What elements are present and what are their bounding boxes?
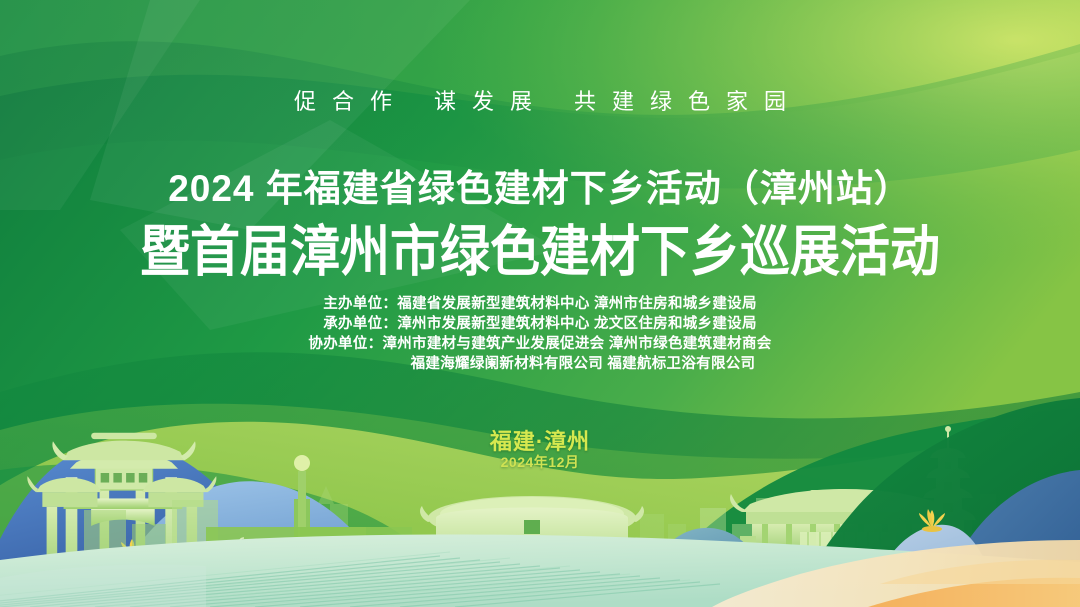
title-line-1: 2024 年福建省绿色建材下乡活动（漳州站）: [0, 158, 1080, 212]
organizer-value: 福建省发展新型建筑材料中心 漳州市住房和城乡建设局: [397, 294, 757, 314]
organizer-value: 漳州市发展新型建筑材料中心 龙文区住房和城乡建设局: [397, 314, 757, 334]
tagline-part-1: 促合作: [294, 89, 408, 114]
organizer-block: 主办单位：福建省发展新型建筑材料中心 漳州市住房和城乡建设局 承办单位：漳州市发…: [0, 294, 1080, 374]
tagline: 促合作谋发展共建绿色家园: [0, 84, 1080, 116]
organizer-value: 漳州市建材与建筑产业发展促进会 漳州市绿色建筑建材商会: [382, 334, 771, 354]
organizer-label: 承办单位：: [323, 314, 397, 334]
organizer-label: 协办单位：: [308, 334, 382, 354]
organizer-row: 主办单位：福建省发展新型建筑材料中心 漳州市住房和城乡建设局: [0, 294, 1080, 314]
organizer-value: 福建海耀绿阑新材料有限公司 福建航标卫浴有限公司: [411, 354, 756, 374]
organizer-row: 承办单位：漳州市发展新型建筑材料中心 龙文区住房和城乡建设局: [0, 314, 1080, 334]
text-content: 促合作谋发展共建绿色家园 2024 年福建省绿色建材下乡活动（漳州站） 暨首届漳…: [0, 0, 1080, 607]
organizer-row: 福建海耀绿阑新材料有限公司 福建航标卫浴有限公司: [0, 354, 1080, 374]
event-date: 2024年12月: [0, 452, 1080, 472]
organizer-label: 主办单位：: [323, 294, 397, 314]
title-line-2: 暨首届漳州市绿色建材下乡巡展活动: [0, 208, 1080, 287]
organizer-row: 协办单位：漳州市建材与建筑产业发展促进会 漳州市绿色建筑建材商会: [0, 334, 1080, 354]
tagline-part-3: 共建绿色家园: [574, 89, 802, 114]
poster-canvas: 促合作谋发展共建绿色家园 2024 年福建省绿色建材下乡活动（漳州站） 暨首届漳…: [0, 0, 1080, 607]
tagline-part-2: 谋发展: [434, 89, 548, 114]
